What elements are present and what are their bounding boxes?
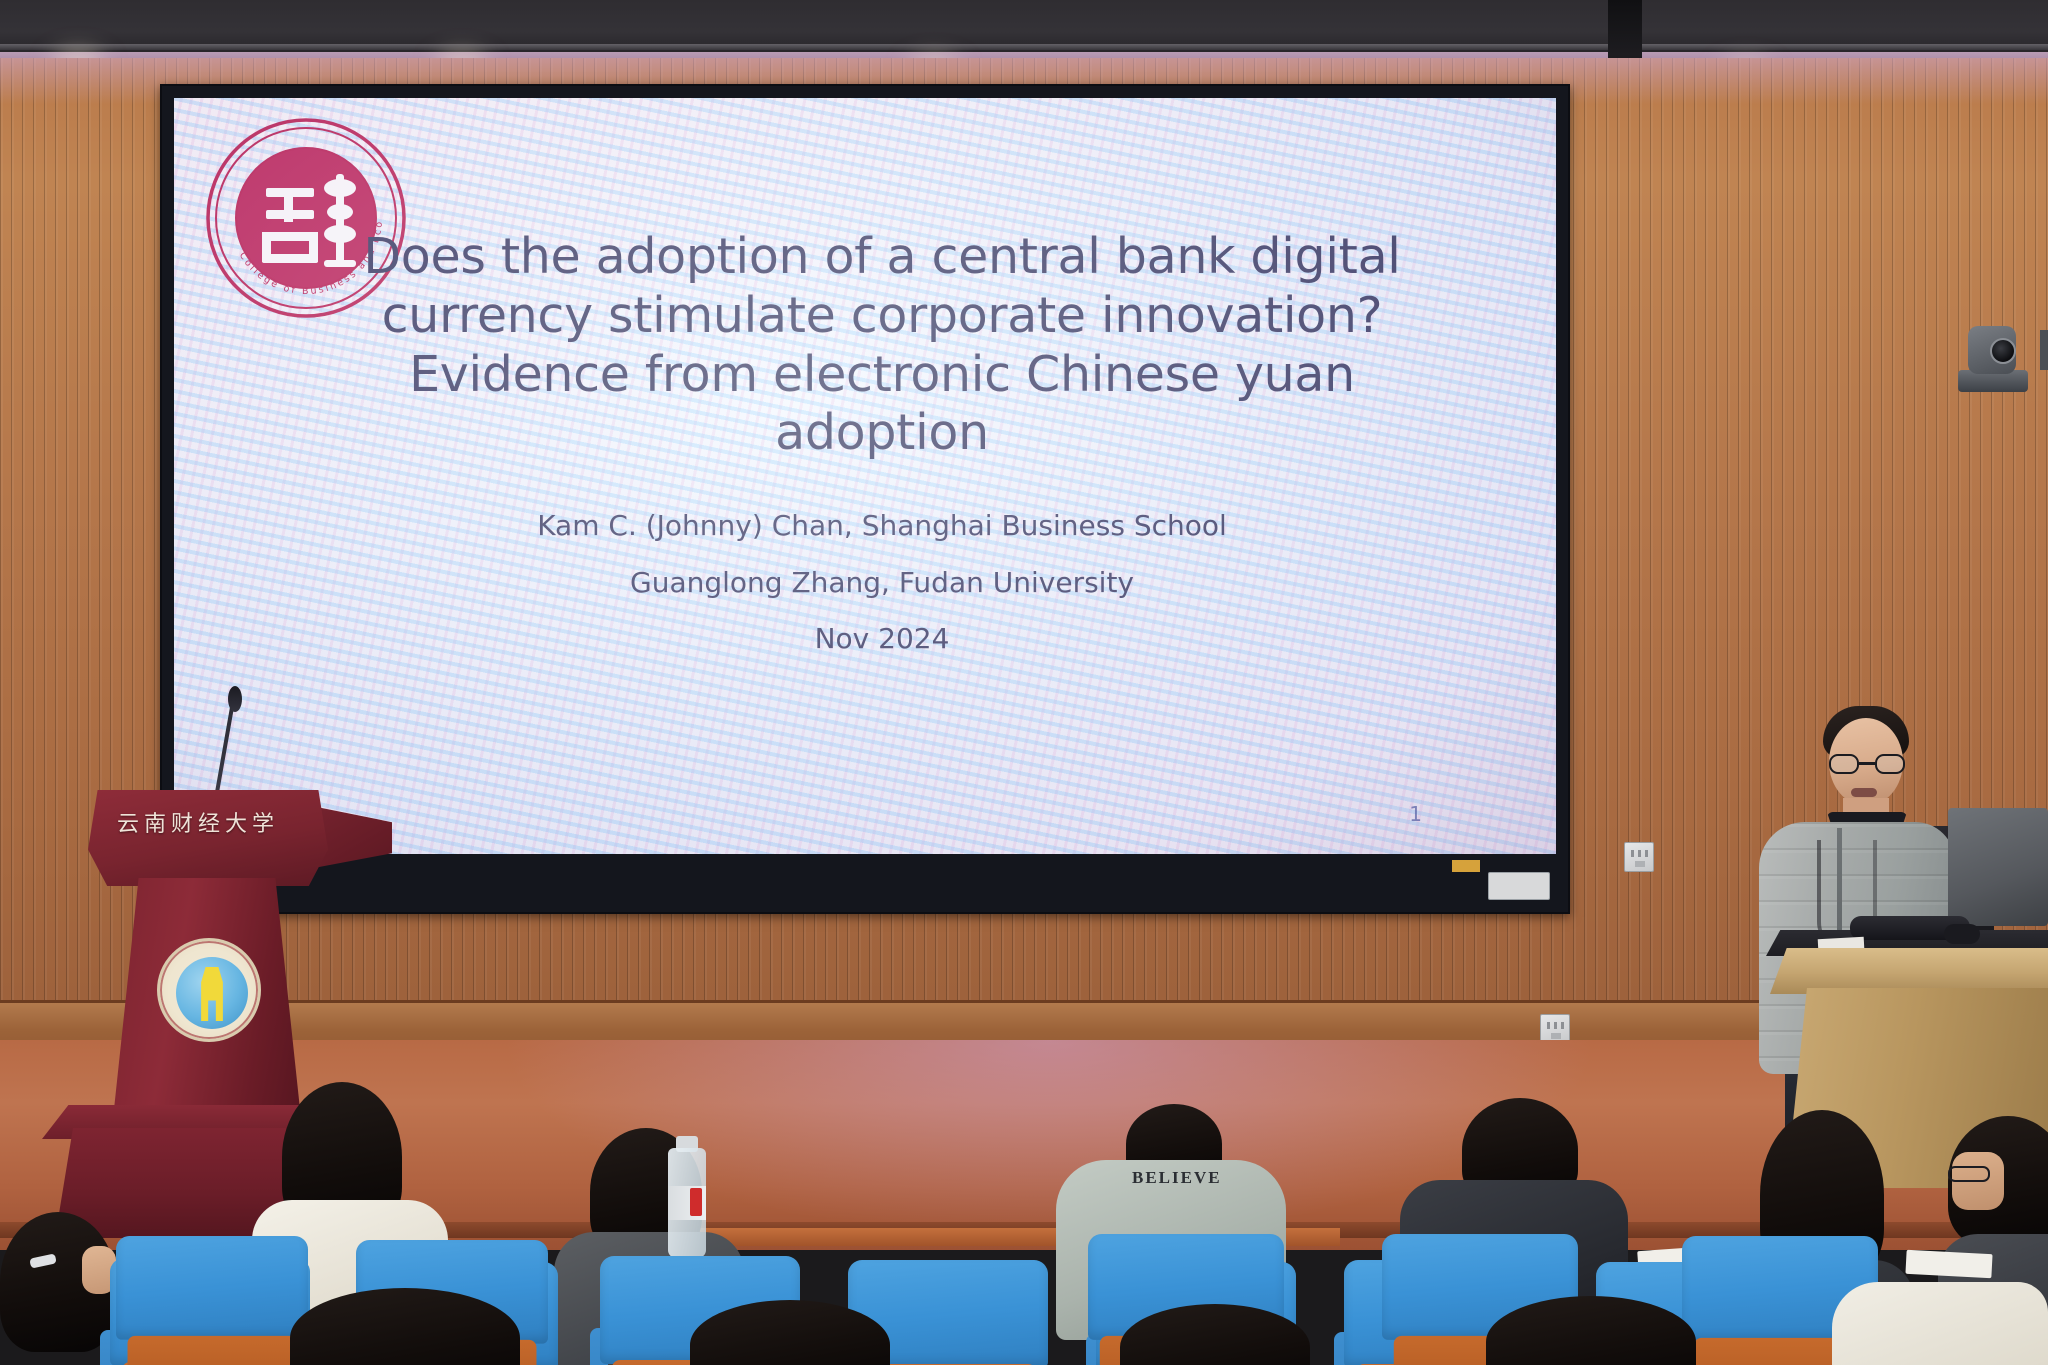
- ceiling-seam: [0, 44, 2048, 50]
- slide-author-1: Kam C. (Johnny) Chan, Shanghai Business …: [352, 498, 1412, 555]
- presenter-mouth: [1851, 788, 1877, 797]
- podium-top: [88, 790, 328, 886]
- person-hair: [1486, 1296, 1696, 1365]
- ptz-camera: [1958, 326, 2028, 392]
- slide-title-line-1: Does the adoption of a central bank digi…: [352, 228, 1412, 287]
- screen-frame-label: [1488, 872, 1550, 900]
- audience-person-front: [690, 1300, 890, 1365]
- lecture-hall-scene: College of Business and Economics Does t…: [0, 0, 2048, 1365]
- person-hair: [690, 1300, 890, 1365]
- lectern-monitor[interactable]: [1948, 808, 2048, 926]
- slide-title-line-3: Evidence from electronic Chinese yuan: [352, 346, 1412, 405]
- slide-page-number: 1: [1409, 802, 1422, 826]
- glasses-lens-right: [1875, 754, 1905, 774]
- jacket-text: BELIEVE: [1132, 1168, 1222, 1188]
- slide-title: Does the adoption of a central bank digi…: [352, 228, 1412, 463]
- audience-person-front: [290, 1288, 520, 1365]
- podium-emblem-ring: [160, 941, 258, 1039]
- seat-wood-panel: [128, 1336, 297, 1365]
- water-bottle-label-accent: [690, 1188, 702, 1216]
- ptz-camera-head: [1968, 326, 2016, 374]
- glasses-lens-left: [1829, 754, 1859, 774]
- person-coat: [1832, 1282, 2048, 1365]
- audience-person-front: [1486, 1296, 1696, 1365]
- seat-backrest: [116, 1236, 308, 1340]
- ptz-camera-lens: [1990, 338, 2016, 364]
- slide-title-line-2: currency stimulate corporate innovation?: [352, 287, 1412, 346]
- podium-inscription: 云南财经大学: [108, 806, 288, 838]
- wall-outlet-upper[interactable]: [1624, 842, 1654, 872]
- screen-frame-tab: [1452, 860, 1480, 872]
- podium-microphone-head: [228, 686, 242, 712]
- person-hair: [1120, 1304, 1310, 1365]
- audience-person-front: [1120, 1304, 1310, 1365]
- presenter-glasses: [1829, 754, 1905, 774]
- projection-screen: College of Business and Economics Does t…: [174, 98, 1556, 854]
- person-hair: [290, 1288, 520, 1365]
- lectern-mouse[interactable]: [1944, 924, 1980, 944]
- person-glasses: [1948, 1166, 1990, 1182]
- lectern-top: [1770, 948, 2048, 994]
- audience-seat[interactable]: [116, 1236, 308, 1365]
- camera-mount-arm: [2040, 330, 2048, 370]
- slide-author-2: Guanglong Zhang, Fudan University: [352, 555, 1412, 612]
- slide-title-line-4: adoption: [352, 404, 1412, 463]
- slide-authors: Kam C. (Johnny) Chan, Shanghai Business …: [352, 498, 1412, 668]
- slide-date: Nov 2024: [352, 611, 1412, 668]
- glasses-bridge: [1859, 762, 1875, 765]
- note-paper: [1905, 1250, 1992, 1278]
- projection-screen-frame: College of Business and Economics Does t…: [160, 84, 1570, 914]
- audience-person-front: [1832, 1282, 2042, 1365]
- podium-emblem: [157, 938, 261, 1042]
